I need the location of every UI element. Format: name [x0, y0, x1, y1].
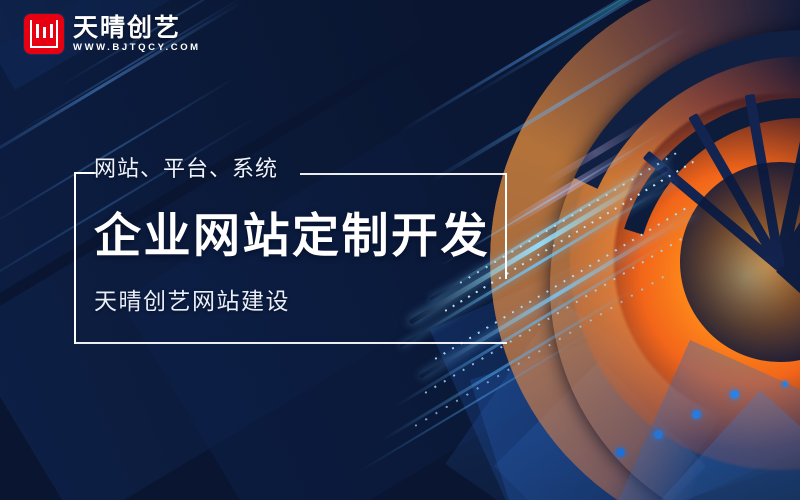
- frame-left-line: [74, 172, 76, 344]
- headline-eyebrow: 网站、平台、系统: [94, 158, 524, 180]
- frame-top-left-stub: [74, 172, 96, 174]
- headline-subtitle: 天晴创艺网站建设: [94, 290, 524, 313]
- logo-company-name: 天晴创艺: [73, 16, 201, 41]
- brand-logo[interactable]: 天晴创艺 WWW.BJTQCY.COM: [24, 14, 201, 54]
- logo-text-block: 天晴创艺 WWW.BJTQCY.COM: [73, 16, 201, 53]
- frame-bottom-line: [74, 342, 507, 344]
- logo-website-url: WWW.BJTQCY.COM: [73, 43, 201, 53]
- promo-banner: 天晴创艺 WWW.BJTQCY.COM 网站、平台、系统 企业网站定制开发 天晴…: [0, 0, 800, 500]
- headline-block: 网站、平台、系统 企业网站定制开发 天晴创艺网站建设: [94, 158, 524, 313]
- tianqing-chuangyi-logo-mark-icon: [24, 14, 64, 54]
- headline-title: 企业网站定制开发: [94, 212, 524, 259]
